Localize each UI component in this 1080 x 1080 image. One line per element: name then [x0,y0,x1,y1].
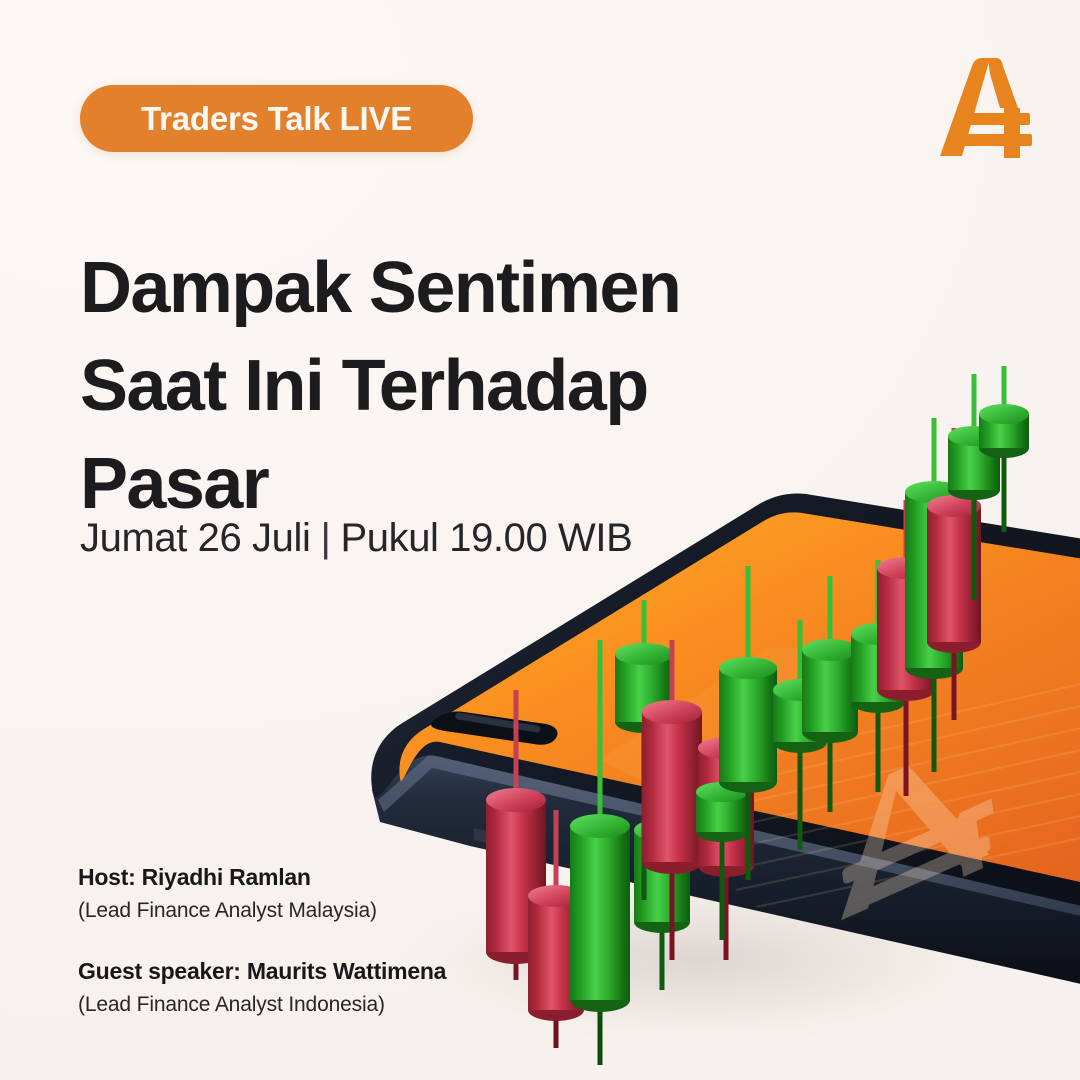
credit-host: Host: Riyadhi Ramlan (Lead Finance Analy… [78,862,548,926]
phone-earpiece [455,712,541,733]
poster-canvas: Traders Talk LIVE Dampak Sentimen Saat I… [0,0,1080,1080]
candle-3-bullish [634,660,690,990]
headline-line-2: Saat Ini Terhadap [80,338,800,436]
schedule-date: Jumat 26 Juli [80,516,310,560]
candle-16-bullish [979,366,1029,532]
credit-host-role: (Lead Finance Analyst Malaysia) [78,896,548,926]
candle-10-bullish [802,576,858,812]
credit-guest-role: (Lead Finance Analyst Indonesia) [78,990,548,1020]
schedule-line: Jumat 26 Juli|Pukul 19.00 WIB [80,514,632,562]
credit-host-name: Host: Riyadhi Ramlan [78,862,548,893]
page-title: Dampak Sentimen Saat Ini Terhadap Pasar [80,240,800,534]
credit-guest-name: Guest speaker: Maurits Wattimena [78,956,548,987]
ascendex-a-logo [932,56,1036,164]
candle-12-bearish [877,500,935,796]
live-badge-label: Traders Talk LIVE [141,102,412,135]
credits-block: Host: Riyadhi Ramlan (Lead Finance Analy… [78,862,548,1021]
candle-4-bullish [615,600,673,900]
candle-5-bearish [642,640,702,960]
candle-6-bearish [698,682,754,960]
schedule-separator: | [320,514,330,562]
candle-11-bullish [851,560,905,792]
live-badge[interactable]: Traders Talk LIVE [80,85,473,152]
phone-side-button [474,828,538,854]
schedule-time: Pukul 19.00 WIB [340,516,632,560]
candle-2-bullish [570,640,630,1065]
screen-watermark-logo [600,560,1080,931]
candle-13-bullish [905,418,963,772]
candle-9-bullish [773,620,827,850]
candle-7-bullish [696,756,748,940]
credit-guest: Guest speaker: Maurits Wattimena (Lead F… [78,956,548,1020]
candle-14-bearish [927,428,981,720]
phone-notch [431,711,557,744]
candle-15-bullish [948,374,1000,600]
candle-8-bullish [719,566,777,880]
headline-line-1: Dampak Sentimen [80,240,800,338]
